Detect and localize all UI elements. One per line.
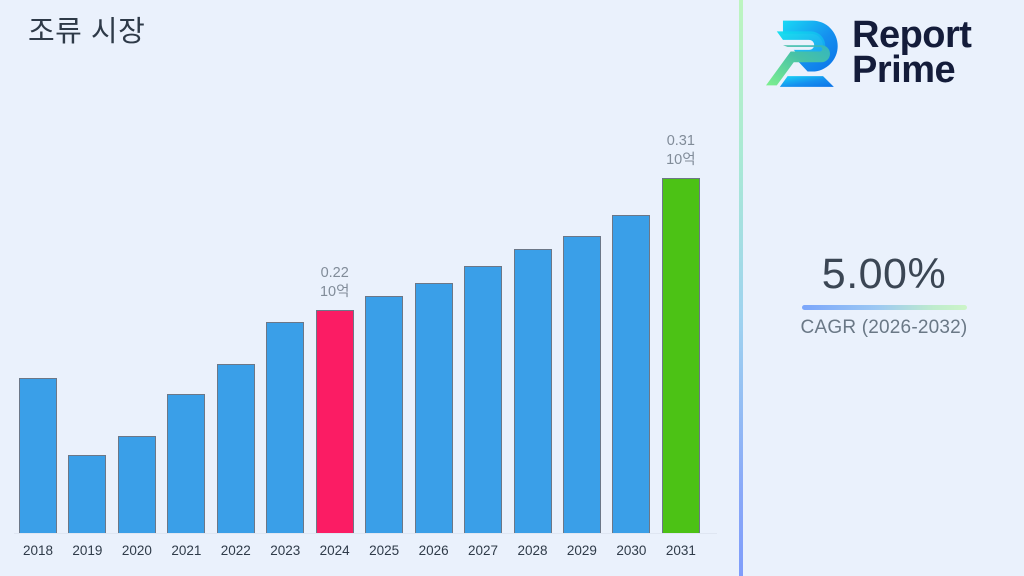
logo-wordmark: Report Prime (852, 18, 971, 89)
x-axis-tick-2022: 2022 (209, 543, 263, 558)
bar-2024[interactable] (316, 310, 354, 533)
x-axis-tick-2028: 2028 (506, 543, 560, 558)
cagr-gradient-rule (802, 305, 967, 310)
bar-2027[interactable] (464, 266, 502, 533)
bar-2019[interactable] (68, 455, 106, 533)
logo-line-2: Prime (852, 53, 971, 88)
bar-2018[interactable] (19, 378, 57, 533)
x-axis-tick-2029: 2029 (555, 543, 609, 558)
bar-2023[interactable] (266, 322, 304, 533)
report-prime-logo-mark (764, 16, 842, 90)
bar-2026[interactable] (415, 283, 453, 533)
x-axis-tick-2026: 2026 (407, 543, 461, 558)
x-axis-tick-2020: 2020 (110, 543, 164, 558)
x-axis-tick-2019: 2019 (60, 543, 114, 558)
x-axis-tick-2025: 2025 (357, 543, 411, 558)
bar-2029[interactable] (563, 236, 601, 533)
x-axis-tick-2018: 2018 (11, 543, 65, 558)
cagr-block: 5.00% CAGR (2026-2032) (744, 252, 1024, 339)
bar-2022[interactable] (217, 364, 255, 533)
x-axis-tick-2024: 2024 (308, 543, 362, 558)
bar-value-label-2031: 0.3110억 (636, 132, 726, 170)
x-axis-tick-2031: 2031 (654, 543, 708, 558)
bar-2020[interactable] (118, 436, 156, 533)
side-panel: Report Prime 5.00% CAGR (2026-2032) (744, 0, 1024, 576)
panel-gradient-divider (739, 0, 743, 576)
bar-value-number-2024: 0.22 (290, 264, 380, 283)
bar-2021[interactable] (167, 394, 205, 533)
bar-value-number-2031: 0.31 (636, 132, 726, 151)
x-axis-tick-2030: 2030 (604, 543, 658, 558)
bar-2025[interactable] (365, 296, 403, 533)
cagr-value: 5.00% (744, 252, 1024, 297)
x-axis-tick-2023: 2023 (258, 543, 312, 558)
cagr-caption: CAGR (2026-2032) (744, 317, 1024, 339)
x-axis-line (14, 533, 717, 534)
screenshot-root: 조류 시장 2018201920202021202220230.2210억202… (0, 0, 1024, 576)
bar-2028[interactable] (514, 249, 552, 533)
bar-2031[interactable] (662, 178, 700, 533)
bar-value-unit-2031: 10억 (636, 151, 726, 170)
bar-2030[interactable] (612, 215, 650, 533)
chart-panel: 조류 시장 2018201920202021202220230.2210억202… (0, 0, 740, 576)
logo-line-1: Report (852, 18, 971, 53)
x-axis-tick-2027: 2027 (456, 543, 510, 558)
report-prime-logo: Report Prime (764, 10, 1010, 96)
bar-chart-plot-area: 2018201920202021202220230.2210억202420252… (0, 0, 740, 576)
x-axis-tick-2021: 2021 (159, 543, 213, 558)
